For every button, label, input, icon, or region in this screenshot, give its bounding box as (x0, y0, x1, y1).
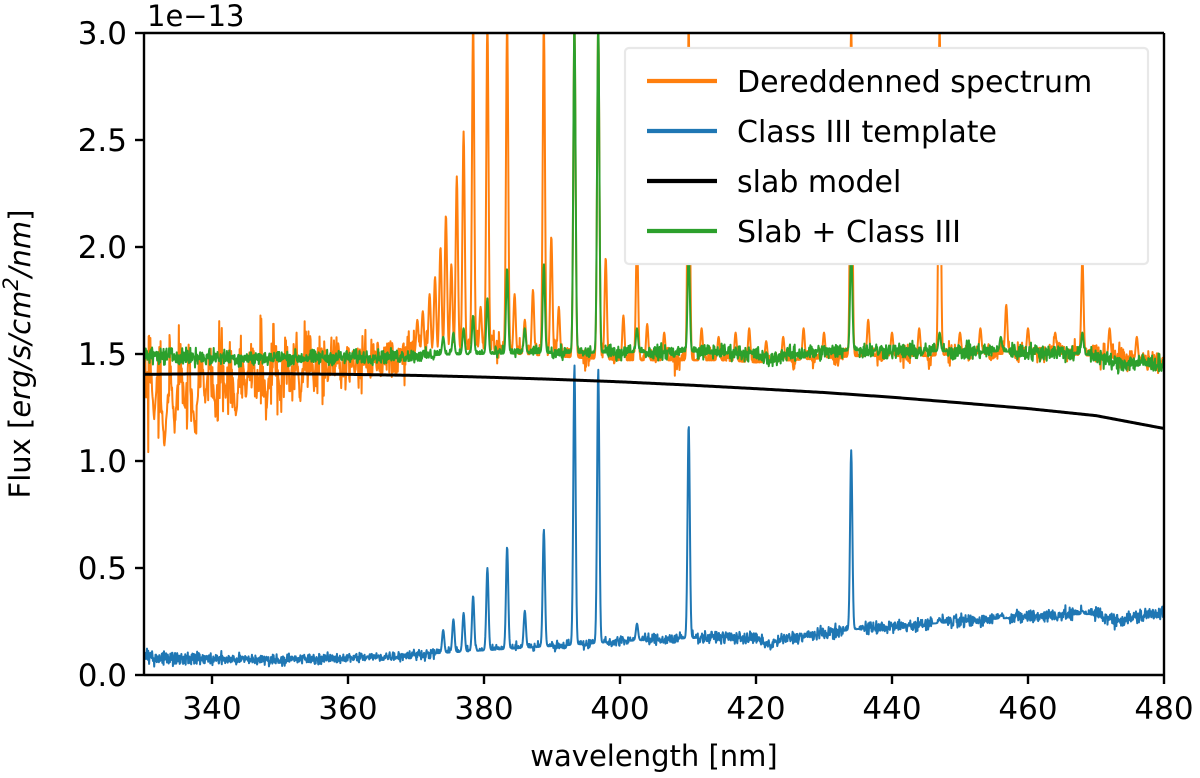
y-tick-label: 3.0 (78, 16, 127, 52)
x-tick-label: 360 (318, 691, 377, 727)
y-tick-label: 1.5 (78, 337, 127, 373)
x-tick-label: 480 (1134, 691, 1193, 727)
y-tick-label: 1.0 (78, 444, 127, 480)
y-tick-label: 0.5 (78, 551, 127, 587)
y-tick-label: 0.0 (78, 658, 127, 694)
matplotlib-figure: 340360380400420440460480 0.00.51.01.52.0… (0, 0, 1200, 778)
y-tick-label: 2.0 (78, 230, 127, 266)
legend-label-3[interactable]: Slab + Class III (737, 215, 961, 250)
x-tick-label: 340 (182, 691, 241, 727)
legend-label-1[interactable]: Class III template (737, 115, 997, 150)
y-axis-offset-label: 1e−13 (147, 0, 245, 33)
y-axis-title: Flux [erg/s/cm2/nm] (0, 210, 37, 499)
legend-label-0[interactable]: Dereddenned spectrum (737, 65, 1092, 100)
x-axis-title: wavelength [nm] (530, 739, 777, 773)
y-tick-label: 2.5 (78, 123, 127, 159)
x-tick-label: 460 (998, 691, 1057, 727)
x-tick-label: 400 (590, 691, 649, 727)
x-tick-label: 420 (726, 691, 785, 727)
spectrum-plot: 340360380400420440460480 0.00.51.01.52.0… (0, 0, 1200, 778)
x-tick-label: 380 (454, 691, 513, 727)
x-tick-label: 440 (862, 691, 921, 727)
legend[interactable]: Dereddenned spectrumClass III templatesl… (625, 48, 1148, 264)
legend-label-2[interactable]: slab model (737, 165, 901, 200)
